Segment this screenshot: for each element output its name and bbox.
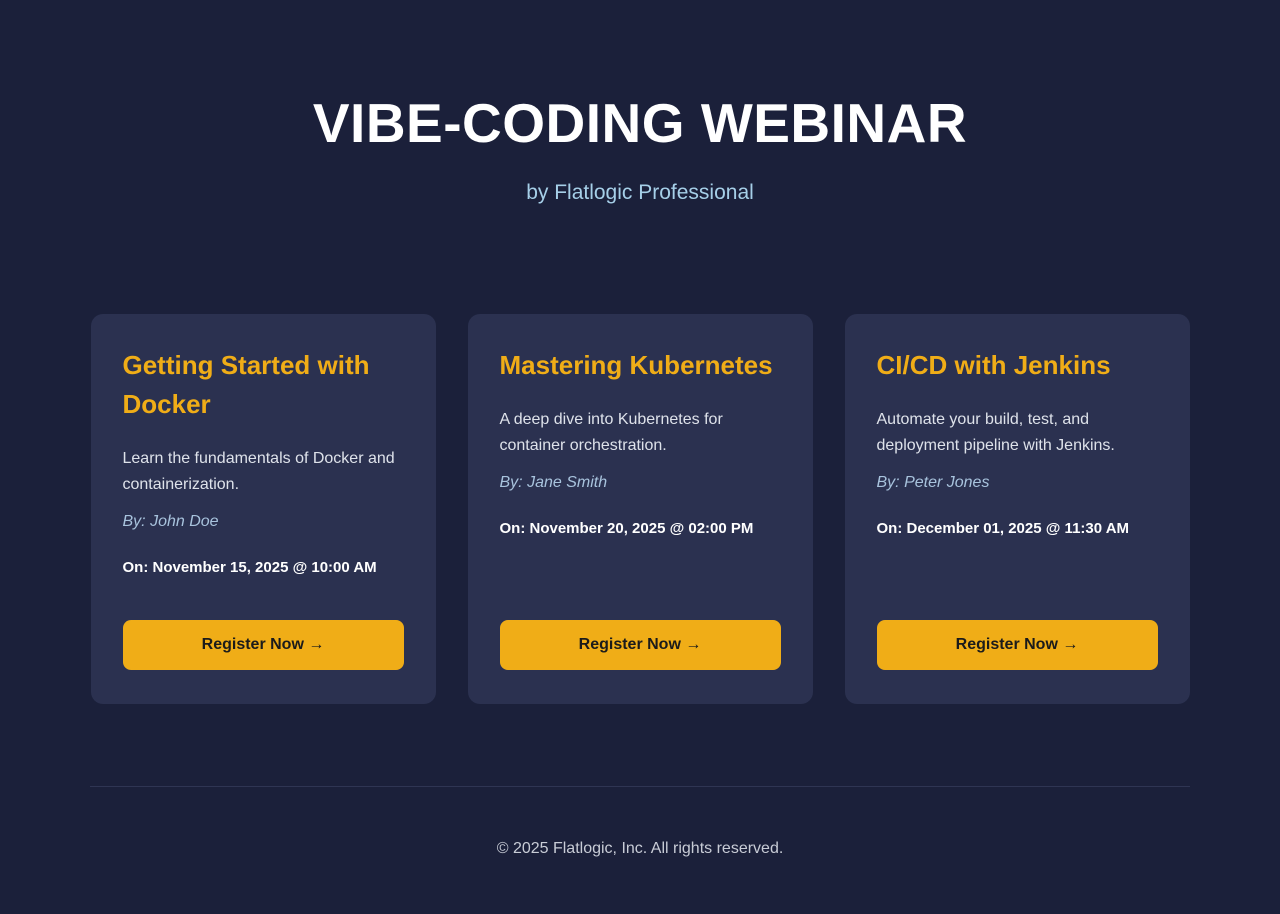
webinar-author: By: John Doe xyxy=(123,511,404,533)
webinar-card: CI/CD with Jenkins Automate your build, … xyxy=(845,314,1190,704)
webinar-description: Automate your build, test, and deploymen… xyxy=(877,407,1158,459)
webinar-list: Getting Started with Docker Learn the fu… xyxy=(0,207,1280,786)
card-spacer xyxy=(500,542,781,620)
webinar-author: By: Jane Smith xyxy=(500,472,781,494)
page-footer: © 2025 Flatlogic, Inc. All rights reserv… xyxy=(0,786,1280,914)
webinar-cards-grid: Getting Started with Docker Learn the fu… xyxy=(90,314,1190,704)
webinar-date: On: December 01, 2025 @ 11:30 AM xyxy=(877,516,1158,542)
page-subtitle: by Flatlogic Professional xyxy=(0,179,1280,207)
register-now-button[interactable]: Register Now → xyxy=(500,620,781,670)
card-spacer xyxy=(877,542,1158,620)
webinar-title: Mastering Kubernetes xyxy=(500,346,781,385)
webinar-landing-page: VIBE-CODING WEBINAR by Flatlogic Profess… xyxy=(0,0,1280,914)
webinar-title: CI/CD with Jenkins xyxy=(877,346,1158,385)
webinar-author: By: Peter Jones xyxy=(877,472,1158,494)
webinar-description: A deep dive into Kubernetes for containe… xyxy=(500,407,781,459)
webinar-description: Learn the fundamentals of Docker and con… xyxy=(123,446,404,498)
page-header: VIBE-CODING WEBINAR by Flatlogic Profess… xyxy=(0,0,1280,207)
card-spacer xyxy=(123,581,404,620)
webinar-card: Mastering Kubernetes A deep dive into Ku… xyxy=(468,314,813,704)
register-now-button[interactable]: Register Now → xyxy=(877,620,1158,670)
webinar-date: On: November 15, 2025 @ 10:00 AM xyxy=(123,555,404,581)
page-title: VIBE-CODING WEBINAR xyxy=(0,92,1280,154)
footer-copyright: © 2025 Flatlogic, Inc. All rights reserv… xyxy=(90,787,1190,914)
webinar-date: On: November 20, 2025 @ 02:00 PM xyxy=(500,516,781,542)
webinar-title: Getting Started with Docker xyxy=(123,346,404,424)
webinar-card: Getting Started with Docker Learn the fu… xyxy=(91,314,436,704)
register-now-button[interactable]: Register Now → xyxy=(123,620,404,670)
